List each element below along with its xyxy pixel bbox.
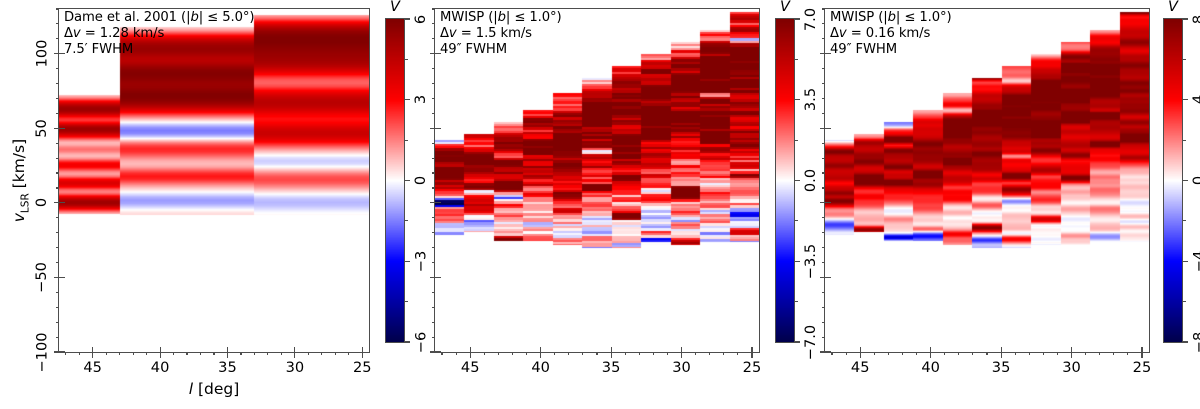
colorbar-minor-tick	[405, 341, 408, 342]
x-tick-label: 25	[730, 359, 774, 376]
x-minor-tick	[441, 352, 442, 355]
x-minor-tick	[484, 352, 485, 355]
x-axis-title: l [deg]	[174, 380, 254, 398]
y-minor-tick	[822, 143, 825, 144]
y-minor-tick	[822, 172, 825, 173]
x-minor-tick	[512, 352, 513, 355]
x-major-tick	[540, 352, 541, 358]
x-major-tick-top	[751, 347, 752, 353]
y-minor-tick	[432, 217, 435, 218]
heatmap-canvas-dame	[59, 9, 369, 352]
x-minor-tick	[321, 352, 322, 355]
y-minor-tick	[822, 217, 825, 218]
y-axis-title: vLSR [km/s]	[10, 139, 31, 222]
plot-panel-mwisp-fine[interactable]	[824, 8, 1150, 353]
colorbar-tick-label: 0.0	[802, 169, 819, 192]
y-major-tick-in	[825, 351, 831, 352]
x-major-tick	[294, 352, 295, 358]
x-tick-label: 40	[909, 359, 953, 376]
y-major-tick-in	[435, 277, 441, 278]
x-minor-tick	[709, 352, 710, 355]
colorbar-minor-tick	[405, 220, 408, 221]
y-minor-tick	[822, 322, 825, 323]
x-minor-tick	[119, 352, 120, 355]
colorbar-tick-label: −7.0	[802, 324, 819, 359]
y-minor-tick	[432, 292, 435, 293]
y-major-tick-in	[825, 202, 831, 203]
y-minor-tick	[822, 292, 825, 293]
y-minor-tick	[822, 83, 825, 84]
y-minor-tick	[432, 247, 435, 248]
x-minor-tick	[846, 352, 847, 355]
colorbar-minor-tick	[1183, 59, 1186, 60]
x-major-tick-top	[1001, 347, 1002, 353]
y-minor-tick	[432, 172, 435, 173]
figure-root: Dame et al. 2001 (|b| ≤ 5.0°) Δv = 1.28 …	[0, 0, 1200, 409]
x-minor-tick	[526, 352, 527, 355]
y-minor-tick	[56, 83, 59, 84]
x-minor-tick	[267, 352, 268, 355]
colorbar-minor-tick	[405, 261, 408, 262]
x-minor-tick	[916, 352, 917, 355]
x-minor-tick	[348, 352, 349, 355]
y-minor-tick	[432, 98, 435, 99]
x-minor-tick	[65, 352, 66, 355]
x-minor-tick	[146, 352, 147, 355]
y-minor-tick	[56, 262, 59, 263]
colorbar-minor-tick	[795, 180, 798, 181]
x-minor-tick	[944, 352, 945, 355]
y-minor-tick	[56, 307, 59, 308]
y-minor-tick	[822, 23, 825, 24]
colorbar-minor-tick	[795, 220, 798, 221]
y-major-tick-in	[435, 128, 441, 129]
y-minor-tick	[56, 143, 59, 144]
colorbar-title-mwisp-fine: V	[1153, 0, 1193, 15]
colorbar-minor-tick	[405, 180, 408, 181]
x-minor-tick	[596, 352, 597, 355]
x-minor-tick	[335, 352, 336, 355]
colorbar-dame	[385, 18, 405, 343]
colorbar-title-mwisp-coarse: V	[765, 0, 805, 15]
y-axis-title-subscript: LSR	[19, 193, 31, 213]
x-tick-label: 35	[589, 359, 633, 376]
x-tick-label: 45	[71, 359, 115, 376]
x-major-tick-top	[681, 347, 682, 353]
x-minor-tick	[986, 352, 987, 355]
x-tick-label: 40	[519, 359, 563, 376]
colorbar-gradient-dame	[386, 19, 404, 342]
x-tick-label: 30	[273, 359, 317, 376]
colorbar-tick-label: 4	[1190, 95, 1200, 104]
colorbar-minor-tick	[795, 261, 798, 262]
y-minor-tick	[822, 113, 825, 114]
x-minor-tick	[133, 352, 134, 355]
x-major-tick-top	[540, 347, 541, 353]
x-minor-tick	[1127, 352, 1128, 355]
x-major-tick	[1001, 352, 1002, 358]
x-axis-title-unit: [deg]	[193, 380, 239, 398]
colorbar-tick-label: 6	[412, 14, 429, 23]
x-minor-tick	[639, 352, 640, 355]
colorbar-minor-tick	[405, 301, 408, 302]
colorbar-title-dame: V	[375, 0, 415, 15]
x-major-tick	[160, 352, 161, 358]
y-major-tick-in	[825, 277, 831, 278]
x-minor-tick	[173, 352, 174, 355]
x-minor-tick	[200, 352, 201, 355]
x-major-tick-top	[227, 347, 228, 353]
y-minor-tick	[56, 322, 59, 323]
plot-panel-mwisp-coarse[interactable]	[434, 8, 760, 353]
y-minor-tick	[822, 68, 825, 69]
x-major-tick	[611, 352, 612, 358]
y-major-tick-in	[825, 53, 831, 54]
y-minor-tick	[56, 158, 59, 159]
x-major-tick-top	[160, 347, 161, 353]
y-minor-tick	[432, 322, 435, 323]
colorbar-minor-tick	[405, 18, 408, 19]
y-minor-tick	[822, 158, 825, 159]
colorbar-tick-label: −4	[1190, 250, 1200, 272]
x-minor-tick	[1057, 352, 1058, 355]
x-minor-tick	[240, 352, 241, 355]
x-minor-tick	[1029, 352, 1030, 355]
x-major-tick-top	[92, 347, 93, 353]
x-major-tick-top	[1141, 347, 1142, 353]
y-tick-label: −50	[33, 262, 50, 293]
y-minor-tick	[432, 143, 435, 144]
y-minor-tick	[56, 232, 59, 233]
colorbar-minor-tick	[1183, 341, 1186, 342]
x-major-tick-top	[860, 347, 861, 353]
x-minor-tick	[831, 352, 832, 355]
y-minor-tick	[56, 23, 59, 24]
x-major-tick	[1141, 352, 1142, 358]
colorbar-minor-tick	[1183, 261, 1186, 262]
y-minor-tick	[56, 247, 59, 248]
x-tick-label: 25	[340, 359, 384, 376]
heatmap-canvas-mwisp-fine	[825, 9, 1149, 352]
x-tick-label: 25	[1120, 359, 1164, 376]
x-minor-tick	[456, 352, 457, 355]
colorbar-gradient-mwisp-coarse	[776, 19, 794, 342]
colorbar-minor-tick	[1183, 301, 1186, 302]
y-major-tick-in	[435, 351, 441, 352]
colorbar-tick-label: 0	[412, 176, 429, 185]
colorbar-mwisp-coarse	[775, 18, 795, 343]
x-tick-label: 40	[138, 359, 182, 376]
x-minor-tick	[972, 352, 973, 355]
y-minor-tick	[56, 172, 59, 173]
colorbar-tick-label: −6	[412, 331, 429, 353]
x-minor-tick	[667, 352, 668, 355]
y-minor-tick	[56, 113, 59, 114]
y-major-tick-in	[825, 128, 831, 129]
x-major-tick	[227, 352, 228, 358]
colorbar-minor-tick	[1183, 140, 1186, 141]
y-minor-tick	[432, 68, 435, 69]
y-minor-tick	[822, 247, 825, 248]
y-minor-tick	[822, 262, 825, 263]
x-major-tick-top	[470, 347, 471, 353]
y-tick-label: −100	[33, 332, 50, 372]
y-major-tick-in	[435, 53, 441, 54]
y-axis-title-symbol: v	[10, 213, 28, 222]
y-minor-tick	[432, 8, 435, 9]
x-minor-tick	[625, 352, 626, 355]
colorbar-tick-label: 0	[1190, 176, 1200, 185]
y-minor-tick	[56, 292, 59, 293]
x-minor-tick	[79, 352, 80, 355]
y-minor-tick	[432, 158, 435, 159]
x-minor-tick	[308, 352, 309, 355]
y-axis-title-unit: [km/s]	[10, 139, 28, 193]
y-minor-tick	[822, 98, 825, 99]
x-minor-tick	[1099, 352, 1100, 355]
colorbar-minor-tick	[795, 18, 798, 19]
x-minor-tick	[874, 352, 875, 355]
colorbar-minor-tick	[795, 341, 798, 342]
colorbar-tick-label: 7.0	[802, 7, 819, 30]
y-minor-tick	[432, 187, 435, 188]
x-minor-tick	[582, 352, 583, 355]
y-minor-tick	[822, 38, 825, 39]
y-minor-tick	[56, 38, 59, 39]
x-major-tick-top	[930, 347, 931, 353]
x-minor-tick	[1015, 352, 1016, 355]
x-minor-tick	[958, 352, 959, 355]
x-minor-tick	[902, 352, 903, 355]
x-tick-label: 45	[838, 359, 882, 376]
plot-panel-dame[interactable]	[58, 8, 370, 353]
colorbar-minor-tick	[1183, 180, 1186, 181]
x-tick-label: 30	[1050, 359, 1094, 376]
colorbar-minor-tick	[1183, 220, 1186, 221]
x-minor-tick	[106, 352, 107, 355]
x-minor-tick	[723, 352, 724, 355]
y-minor-tick	[56, 217, 59, 218]
y-major-tick-in	[59, 277, 65, 278]
x-major-tick	[470, 352, 471, 358]
y-minor-tick	[822, 8, 825, 9]
y-tick-label: 50	[33, 119, 50, 138]
colorbar-minor-tick	[405, 140, 408, 141]
colorbar-gradient-mwisp-fine	[1164, 19, 1182, 342]
colorbar-tick-label: 8	[1190, 14, 1200, 23]
colorbar-minor-tick	[795, 99, 798, 100]
x-minor-tick	[1113, 352, 1114, 355]
y-tick-label: 0	[33, 198, 50, 207]
y-minor-tick	[432, 232, 435, 233]
y-minor-tick	[432, 113, 435, 114]
colorbar-mwisp-fine	[1163, 18, 1183, 343]
x-minor-tick	[498, 352, 499, 355]
y-minor-tick	[56, 98, 59, 99]
x-major-tick	[362, 352, 363, 358]
y-minor-tick	[432, 23, 435, 24]
x-minor-tick	[186, 352, 187, 355]
x-major-tick-top	[611, 347, 612, 353]
x-major-tick	[92, 352, 93, 358]
x-tick-label: 45	[448, 359, 492, 376]
colorbar-tick-label: 3	[412, 95, 429, 104]
x-minor-tick	[254, 352, 255, 355]
y-major-tick-in	[59, 351, 65, 352]
x-major-tick-top	[1071, 347, 1072, 353]
y-minor-tick	[56, 8, 59, 9]
y-minor-tick	[432, 38, 435, 39]
x-minor-tick	[568, 352, 569, 355]
y-major-tick-in	[59, 202, 65, 203]
y-minor-tick	[56, 187, 59, 188]
x-tick-label: 35	[979, 359, 1023, 376]
x-major-tick-top	[362, 347, 363, 353]
colorbar-minor-tick	[405, 59, 408, 60]
x-major-tick	[1071, 352, 1072, 358]
x-minor-tick	[1043, 352, 1044, 355]
y-minor-tick	[432, 307, 435, 308]
y-minor-tick	[56, 337, 59, 338]
y-minor-tick	[822, 232, 825, 233]
x-major-tick	[930, 352, 931, 358]
x-minor-tick	[653, 352, 654, 355]
y-minor-tick	[56, 68, 59, 69]
colorbar-tick-label: −8	[1190, 331, 1200, 353]
y-minor-tick	[822, 187, 825, 188]
colorbar-minor-tick	[795, 59, 798, 60]
x-tick-label: 35	[205, 359, 249, 376]
x-minor-tick	[213, 352, 214, 355]
colorbar-minor-tick	[405, 99, 408, 100]
colorbar-minor-tick	[1183, 99, 1186, 100]
x-minor-tick	[554, 352, 555, 355]
x-tick-label: 30	[660, 359, 704, 376]
y-minor-tick	[432, 83, 435, 84]
x-major-tick-top	[294, 347, 295, 353]
x-minor-tick	[1085, 352, 1086, 355]
x-minor-tick	[888, 352, 889, 355]
x-major-tick	[681, 352, 682, 358]
x-major-tick	[860, 352, 861, 358]
colorbar-tick-label: −3.5	[802, 244, 819, 279]
colorbar-minor-tick	[795, 140, 798, 141]
x-minor-tick	[281, 352, 282, 355]
heatmap-canvas-mwisp-coarse	[435, 9, 759, 352]
y-major-tick-in	[435, 202, 441, 203]
y-minor-tick	[432, 337, 435, 338]
y-minor-tick	[822, 307, 825, 308]
y-major-tick-in	[59, 53, 65, 54]
y-tick-label: 100	[33, 40, 50, 68]
y-major-tick-in	[59, 128, 65, 129]
x-minor-tick	[737, 352, 738, 355]
colorbar-tick-label: 3.5	[802, 88, 819, 111]
x-major-tick	[751, 352, 752, 358]
colorbar-minor-tick	[1183, 18, 1186, 19]
y-minor-tick	[822, 337, 825, 338]
colorbar-minor-tick	[795, 301, 798, 302]
x-minor-tick	[695, 352, 696, 355]
colorbar-tick-label: −3	[412, 250, 429, 272]
y-minor-tick	[432, 262, 435, 263]
